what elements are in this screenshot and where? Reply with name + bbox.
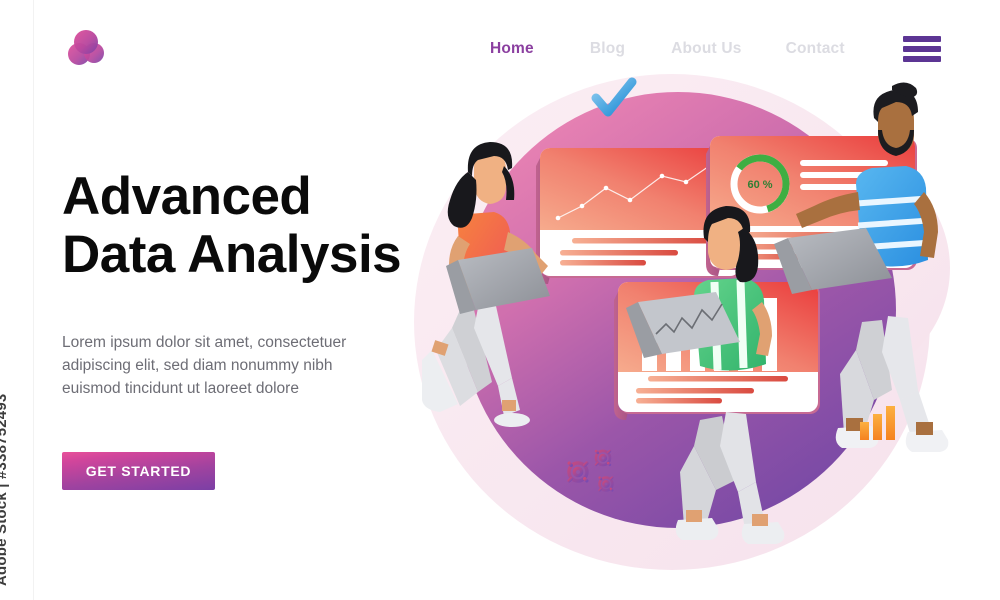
- hamburger-bar: [903, 56, 941, 62]
- landing-page: 60 %: [0, 0, 1000, 600]
- page-title-line-1: Advanced: [62, 167, 311, 226]
- three-circles-logo[interactable]: [62, 26, 110, 70]
- page-title: Advanced Data Analysis: [62, 168, 482, 285]
- page-title-line-2: Data Analysis: [62, 225, 401, 284]
- watermark-stripe: Adobe Stock | #338752493: [0, 0, 34, 600]
- site-header: Home Blog About Us Contact: [0, 0, 1000, 95]
- donut-chart-label: 60 %: [747, 179, 772, 191]
- nav-item-about-us[interactable]: About Us: [671, 40, 741, 58]
- hero-copy-block: Advanced Data Analysis Lorem ipsum dolor…: [62, 168, 482, 490]
- watermark-text: Adobe Stock | #338752493: [0, 394, 10, 586]
- hamburger-bar: [903, 36, 941, 42]
- nav-item-home[interactable]: Home: [490, 40, 534, 58]
- nav-item-blog[interactable]: Blog: [590, 40, 625, 58]
- get-started-button[interactable]: GET STARTED: [62, 452, 215, 490]
- nav-item-contact[interactable]: Contact: [786, 40, 845, 58]
- hamburger-bar: [903, 46, 941, 52]
- hamburger-menu-icon[interactable]: [903, 35, 941, 63]
- hero-illustration: 60 %: [400, 60, 1000, 600]
- hero-subtitle: Lorem ipsum dolor sit amet, consectetuer…: [62, 331, 392, 401]
- main-navigation: Home Blog About Us Contact: [490, 35, 941, 63]
